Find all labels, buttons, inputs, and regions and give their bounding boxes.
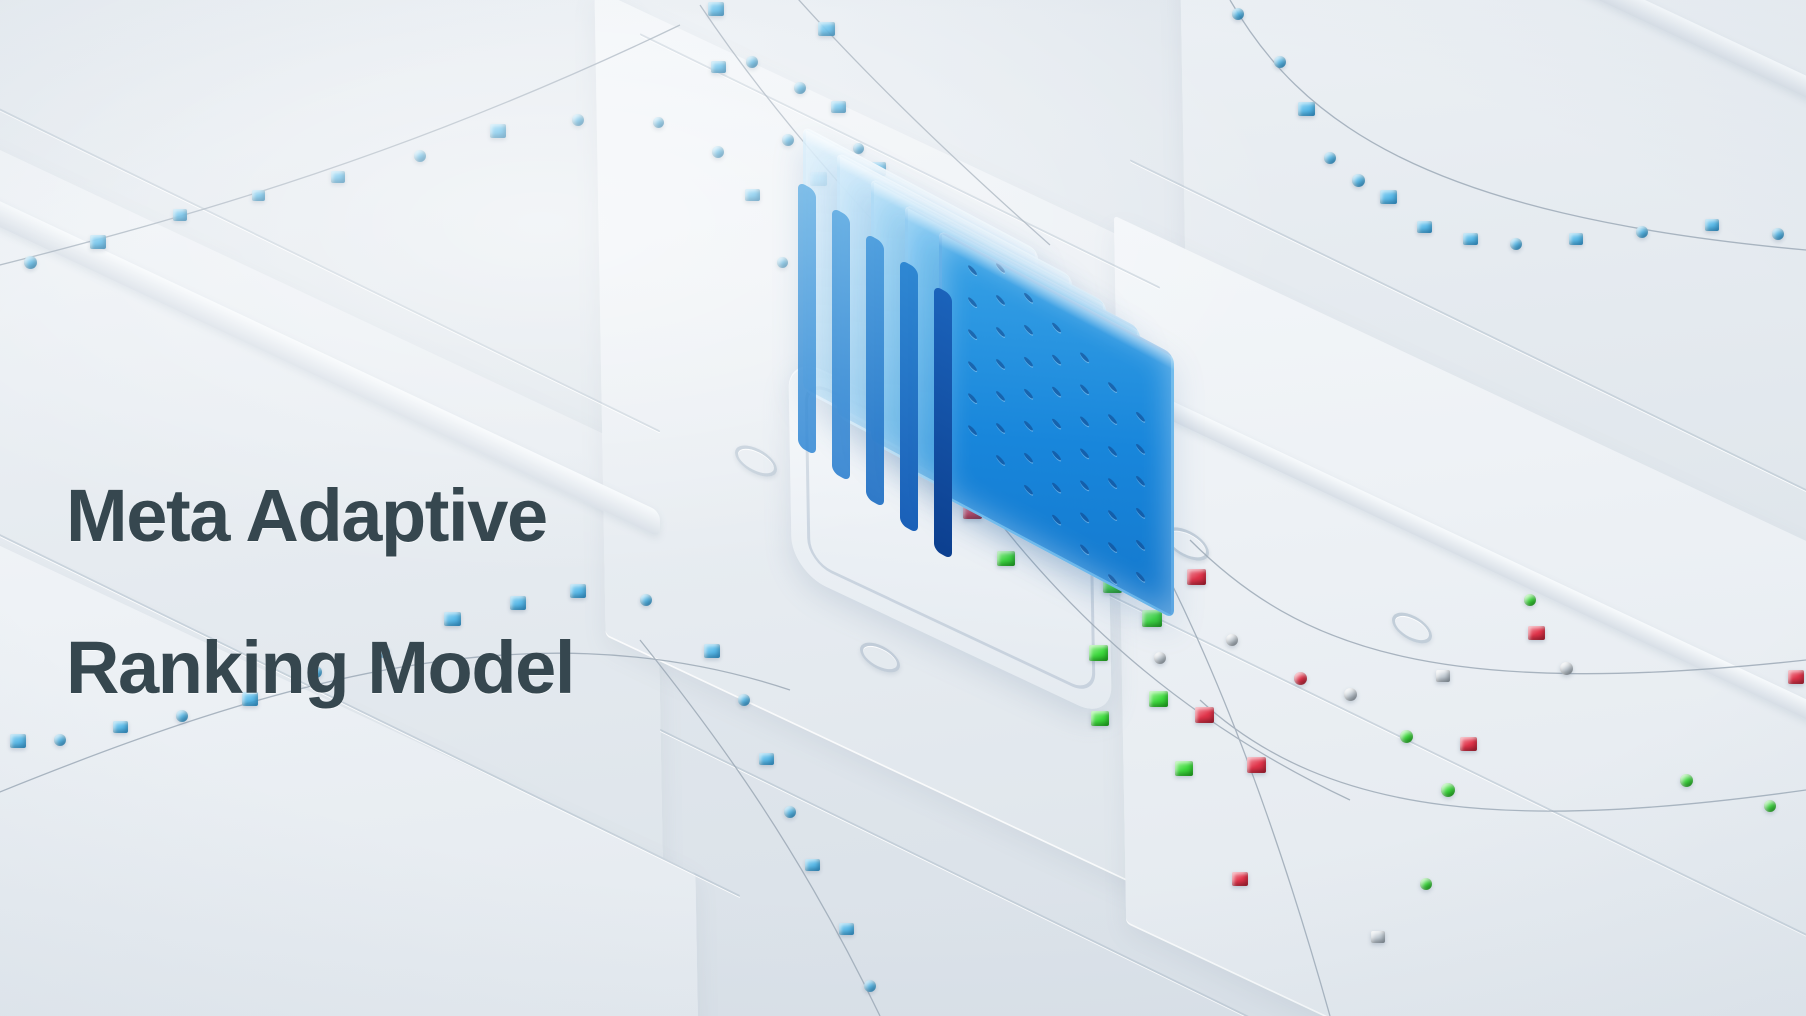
grid-dot — [968, 359, 978, 372]
grid-dot — [1052, 385, 1062, 398]
grid-dot — [1108, 540, 1118, 553]
panel-front-grid — [939, 292, 1174, 557]
grid-dot — [1052, 321, 1062, 334]
grid-dot — [996, 453, 1006, 466]
layered-neural-panels — [735, 170, 1195, 640]
grid-dot — [1136, 602, 1146, 615]
hero-scene: Meta Adaptive Ranking Model — [0, 0, 1806, 1016]
grid-dot — [968, 327, 978, 340]
grid-dot — [1024, 355, 1034, 368]
grid-dot — [968, 295, 978, 308]
grid-dot — [1108, 508, 1118, 521]
grid-dot — [968, 423, 978, 436]
grid-dot — [1108, 476, 1118, 489]
grid-dot — [1136, 410, 1146, 423]
grid-dot — [1080, 351, 1090, 364]
grid-dot — [1052, 353, 1062, 366]
grid-dot — [1024, 483, 1034, 496]
grid-dot — [1052, 513, 1062, 526]
grid-dot — [1024, 451, 1034, 464]
grid-dot — [996, 325, 1006, 338]
grid-dot — [1136, 538, 1146, 551]
grid-dot — [968, 391, 978, 404]
page-title-line-1: Meta Adaptive — [66, 474, 547, 557]
page-title: Meta Adaptive Ranking Model — [66, 402, 574, 783]
grid-dot — [1080, 511, 1090, 524]
grid-dot — [1024, 387, 1034, 400]
grid-dot — [1052, 481, 1062, 494]
grid-dot — [1024, 323, 1034, 336]
grid-dot — [1080, 415, 1090, 428]
grid-dot — [996, 421, 1006, 434]
grid-dot — [996, 293, 1006, 306]
grid-dot — [1024, 419, 1034, 432]
grid-dot — [1108, 444, 1118, 457]
grid-dot — [1136, 474, 1146, 487]
grid-dot — [1108, 380, 1118, 393]
grid-dot — [1080, 383, 1090, 396]
grid-dot — [1080, 447, 1090, 460]
grid-dot — [1136, 506, 1146, 519]
grid-dot — [996, 389, 1006, 402]
grid-dot — [1136, 442, 1146, 455]
grid-dot — [1052, 417, 1062, 430]
grid-dot — [1080, 479, 1090, 492]
page-title-line-2: Ranking Model — [66, 630, 574, 706]
grid-dot — [1136, 570, 1146, 583]
grid-dot — [1052, 449, 1062, 462]
grid-dot — [1108, 572, 1118, 585]
grid-dot — [996, 357, 1006, 370]
grid-dot — [1080, 543, 1090, 556]
grid-dot — [1108, 412, 1118, 425]
